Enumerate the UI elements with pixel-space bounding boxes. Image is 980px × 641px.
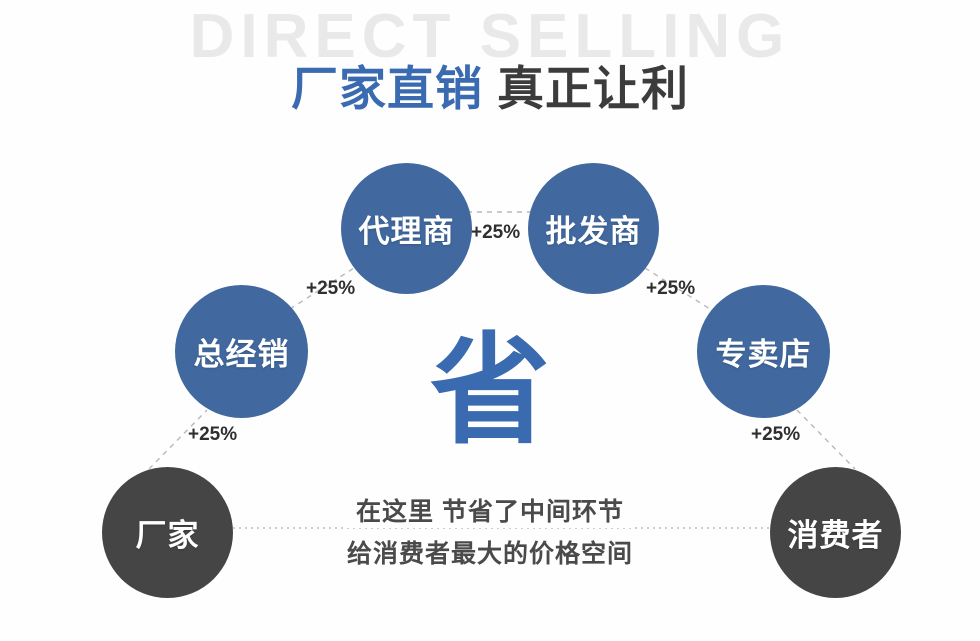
- node-general-distributor[interactable]: 总经销: [175, 285, 308, 418]
- node-consumer[interactable]: 消费者: [770, 467, 901, 598]
- node-factory-label: 厂家: [136, 510, 200, 555]
- node-wholesaler-label: 批发商: [546, 206, 642, 251]
- node-general-distributor-label: 总经销: [194, 329, 290, 374]
- markup-label-agent-wholesale: +25%: [471, 222, 520, 244]
- markup-label-general-agent: +25%: [306, 278, 355, 300]
- caption-line-2-text: 给消费者最大的价格空间: [337, 534, 643, 570]
- caption-line-1-text: 在这里 节省了中间环节: [346, 492, 634, 528]
- savings-glyph: 省: [0, 331, 980, 451]
- node-factory[interactable]: 厂家: [102, 467, 233, 598]
- markup-label-wholesale-store: +25%: [646, 278, 695, 300]
- node-wholesaler[interactable]: 批发商: [528, 163, 659, 294]
- node-agent[interactable]: 代理商: [341, 163, 472, 294]
- node-exclusive-store-label: 专卖店: [716, 329, 812, 374]
- node-agent-label: 代理商: [359, 206, 455, 251]
- diagram-canvas: DIRECT SELLING 厂家直销 真正让利 省 在这里 节省了中间环节 给…: [0, 0, 980, 641]
- markup-label-store-consumer: +25%: [751, 424, 800, 446]
- node-exclusive-store[interactable]: 专卖店: [697, 285, 830, 418]
- markup-label-factory-general: +25%: [188, 424, 237, 446]
- node-consumer-label: 消费者: [788, 510, 884, 555]
